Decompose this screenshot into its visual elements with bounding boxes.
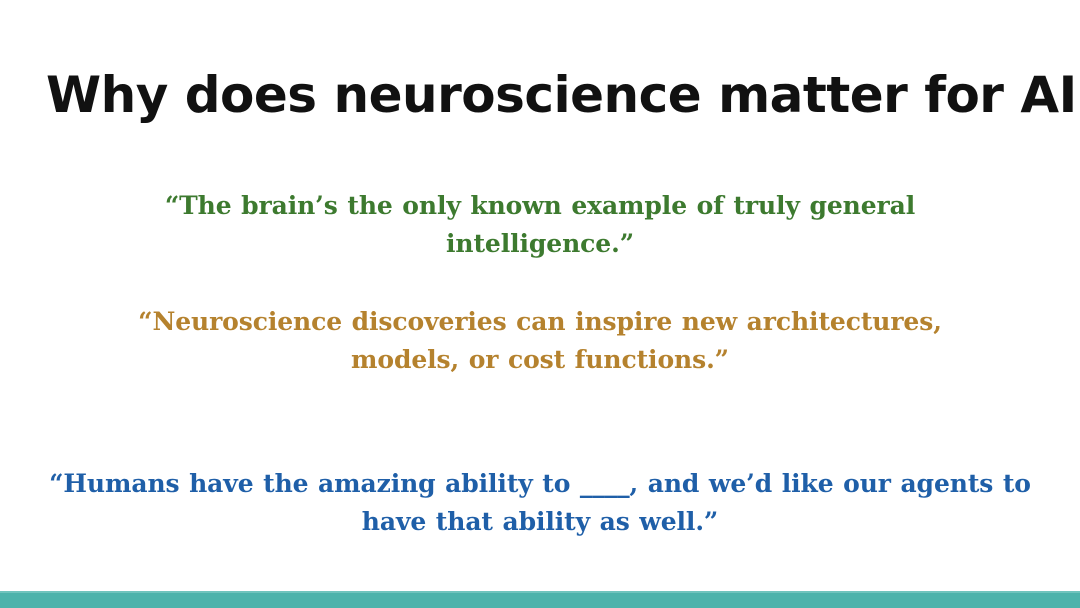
quote-item-human-ability: “Humans have the amazing ability to ____… <box>40 465 1040 541</box>
page-title: Why does neuroscience matter for AI? <box>46 64 1036 126</box>
footer-accent-bar-highlight <box>0 591 1080 593</box>
presentation-slide: Why does neuroscience matter for AI? “Th… <box>0 0 1080 608</box>
quote-item-general-intelligence: “The brain’s the only known example of t… <box>90 187 990 263</box>
footer-accent-bar <box>0 591 1080 608</box>
quote-list: “The brain’s the only known example of t… <box>0 148 1080 568</box>
quote-item-architectures: “Neuroscience discoveries can inspire ne… <box>80 303 1000 379</box>
